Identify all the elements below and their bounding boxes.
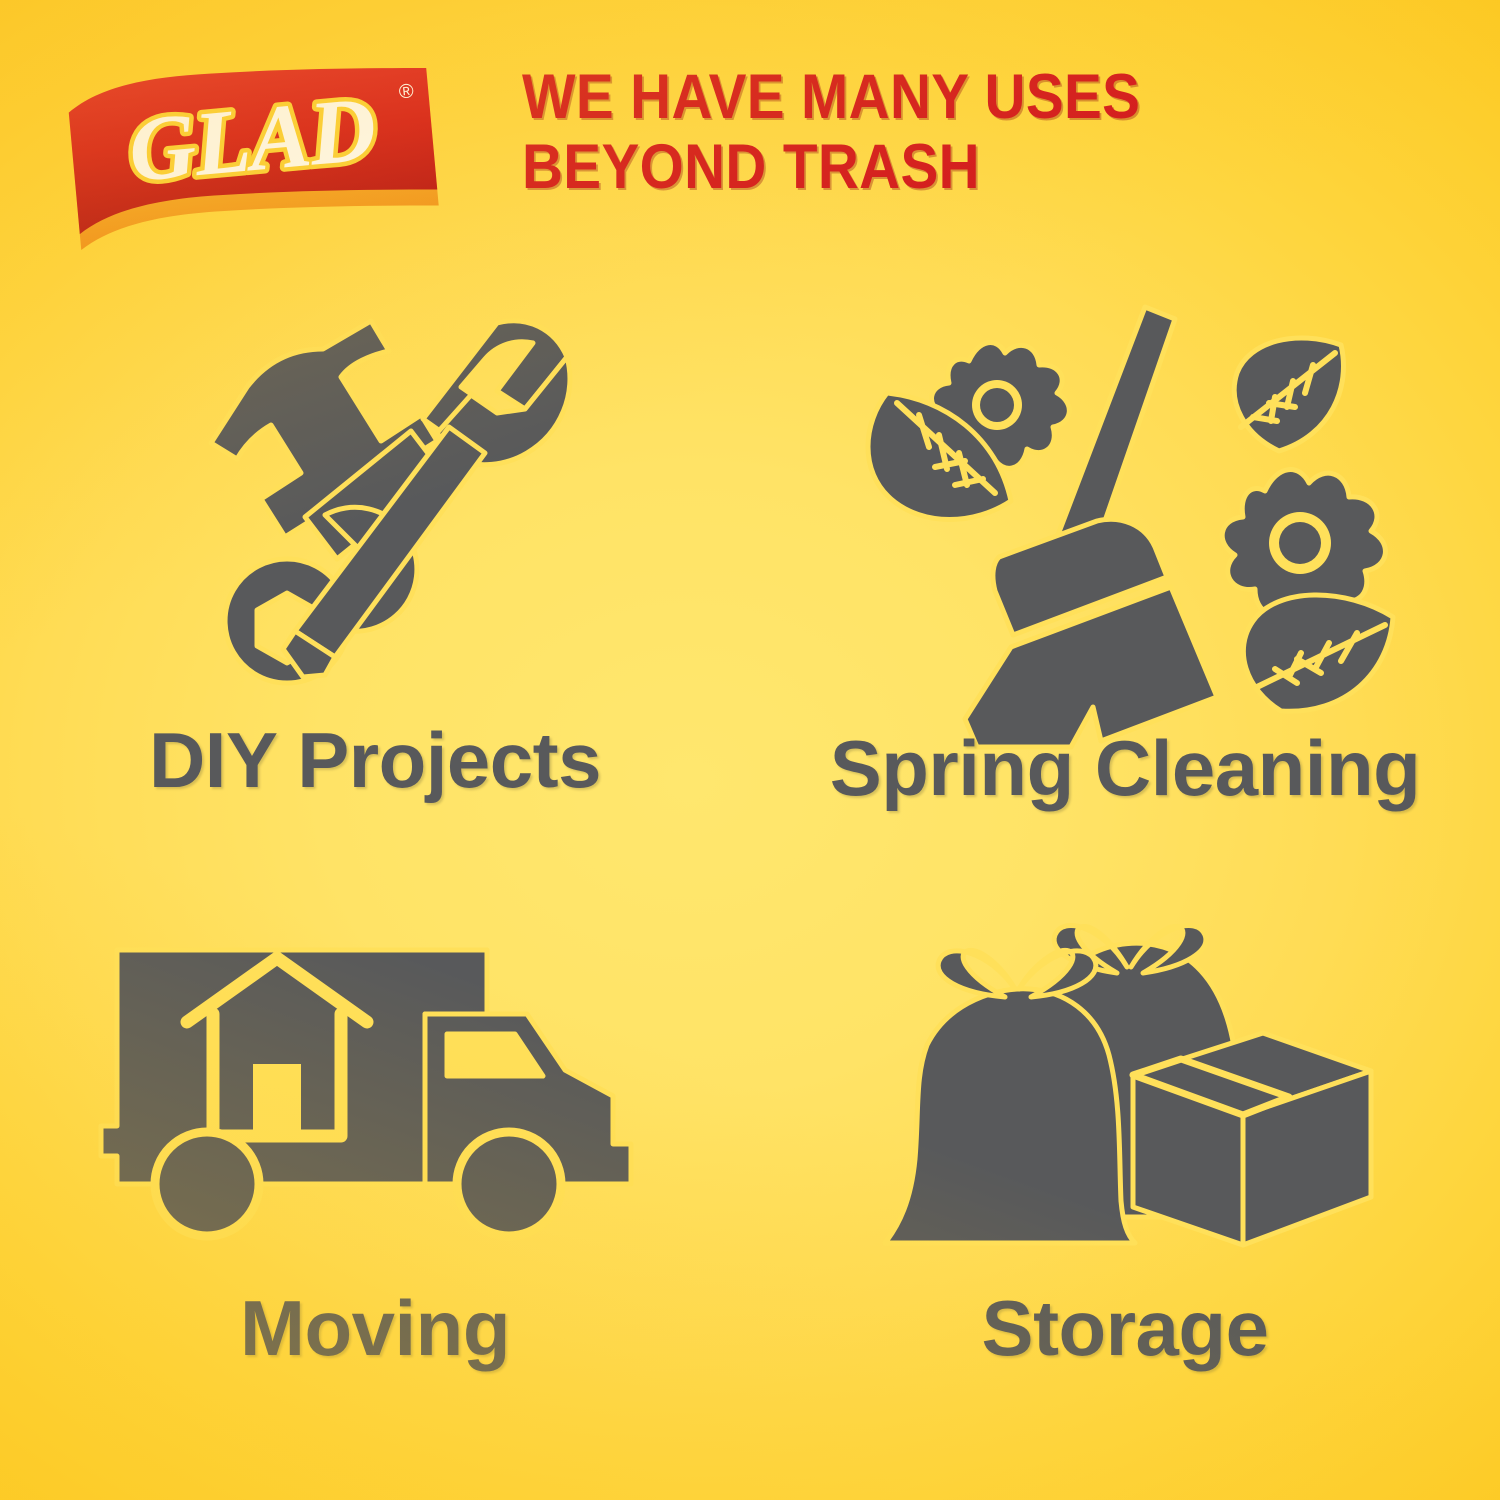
uses-grid: DIY Projects [0, 300, 1500, 1500]
headline-line-2: BEYOND TRASH [522, 132, 1332, 202]
house-door [253, 1064, 301, 1136]
registered-trademark-icon: ® [398, 80, 415, 103]
flower-center-disc [1279, 522, 1321, 564]
use-label-spring-cleaning: Spring Cleaning [830, 726, 1421, 810]
trash-bags-and-box-icon [750, 900, 1500, 1260]
storage-box [1133, 1033, 1371, 1245]
poster-canvas: GLAD GLAD ® WE HAVE MANY USES BEYOND TRA… [0, 0, 1500, 1500]
use-label-diy-projects: DIY Projects [149, 718, 601, 802]
bag-body [885, 989, 1135, 1243]
headline-line-1: WE HAVE MANY USES [522, 62, 1332, 132]
glad-logo-svg: GLAD GLAD ® [68, 66, 440, 258]
use-label-storage: Storage [982, 1286, 1269, 1370]
headline: WE HAVE MANY USES BEYOND TRASH [522, 62, 1422, 202]
leaf-blade [1243, 595, 1393, 711]
use-cell-storage[interactable]: Storage [750, 900, 1500, 1500]
use-cell-moving[interactable]: Moving [0, 900, 750, 1500]
broom-with-flowers-and-leaves-icon [750, 300, 1500, 720]
hammer-and-wrench-icon [0, 300, 750, 700]
use-label-moving: Moving [240, 1286, 510, 1370]
moving-truck-with-house-icon [0, 900, 750, 1260]
truck-front-wheel [457, 1132, 561, 1236]
use-cell-spring-cleaning[interactable]: Spring Cleaning [750, 300, 1500, 900]
leaf-top-right [1234, 338, 1343, 451]
leaf-bottom-right [1243, 595, 1393, 711]
truck-rear-wheel [155, 1132, 259, 1236]
flower-center-disc [980, 388, 1014, 422]
glad-logo[interactable]: GLAD GLAD ® [68, 66, 440, 258]
use-cell-diy-projects[interactable]: DIY Projects [0, 300, 750, 900]
